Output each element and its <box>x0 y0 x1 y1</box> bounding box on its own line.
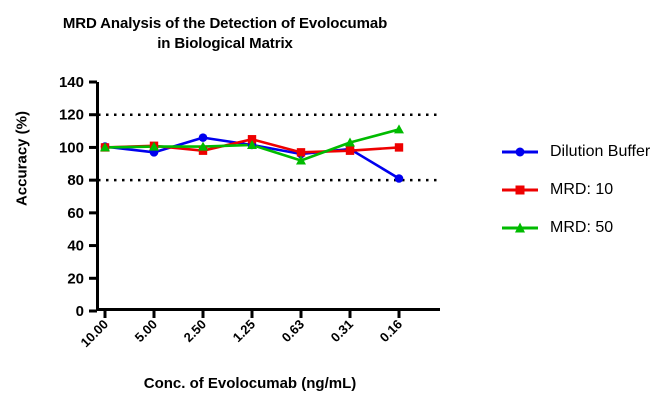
svg-text:40: 40 <box>67 238 84 255</box>
axis-lines <box>96 82 440 311</box>
x-axis-ticks: 10.005.002.501.250.630.310.16 <box>78 309 406 350</box>
legend-label-mrd-50: MRD: 50 <box>550 219 613 237</box>
chart-figure: MRD Analysis of the Detection of Evolocu… <box>0 0 650 412</box>
chart-legend: Dilution Buffer MRD: 10 MRD: 50 <box>500 136 650 250</box>
svg-text:120: 120 <box>59 107 84 124</box>
svg-text:100: 100 <box>59 139 84 156</box>
svg-text:1.25: 1.25 <box>230 317 259 346</box>
svg-text:0: 0 <box>76 303 84 320</box>
svg-text:0.16: 0.16 <box>377 317 406 346</box>
legend-marker-square-icon <box>500 182 540 198</box>
svg-text:5.00: 5.00 <box>132 317 161 346</box>
legend-label-dilution-buffer: Dilution Buffer <box>550 143 650 161</box>
svg-text:60: 60 <box>67 205 84 222</box>
legend-marker-triangle-icon <box>500 220 540 236</box>
legend-item-mrd-50: MRD: 50 <box>500 212 650 243</box>
svg-text:10.00: 10.00 <box>78 317 112 351</box>
svg-text:0.63: 0.63 <box>279 317 308 346</box>
svg-text:140: 140 <box>59 74 84 91</box>
svg-text:2.50: 2.50 <box>181 317 210 346</box>
legend-label-mrd-10: MRD: 10 <box>550 181 613 199</box>
svg-text:20: 20 <box>67 270 84 287</box>
legend-marker-circle-icon <box>500 144 540 160</box>
legend-item-mrd-10: MRD: 10 <box>500 174 650 205</box>
svg-text:80: 80 <box>67 172 84 189</box>
y-axis-ticks: 020406080100120140 <box>59 74 97 320</box>
svg-text:0.31: 0.31 <box>328 317 357 346</box>
legend-item-dilution-buffer: Dilution Buffer <box>500 136 650 167</box>
